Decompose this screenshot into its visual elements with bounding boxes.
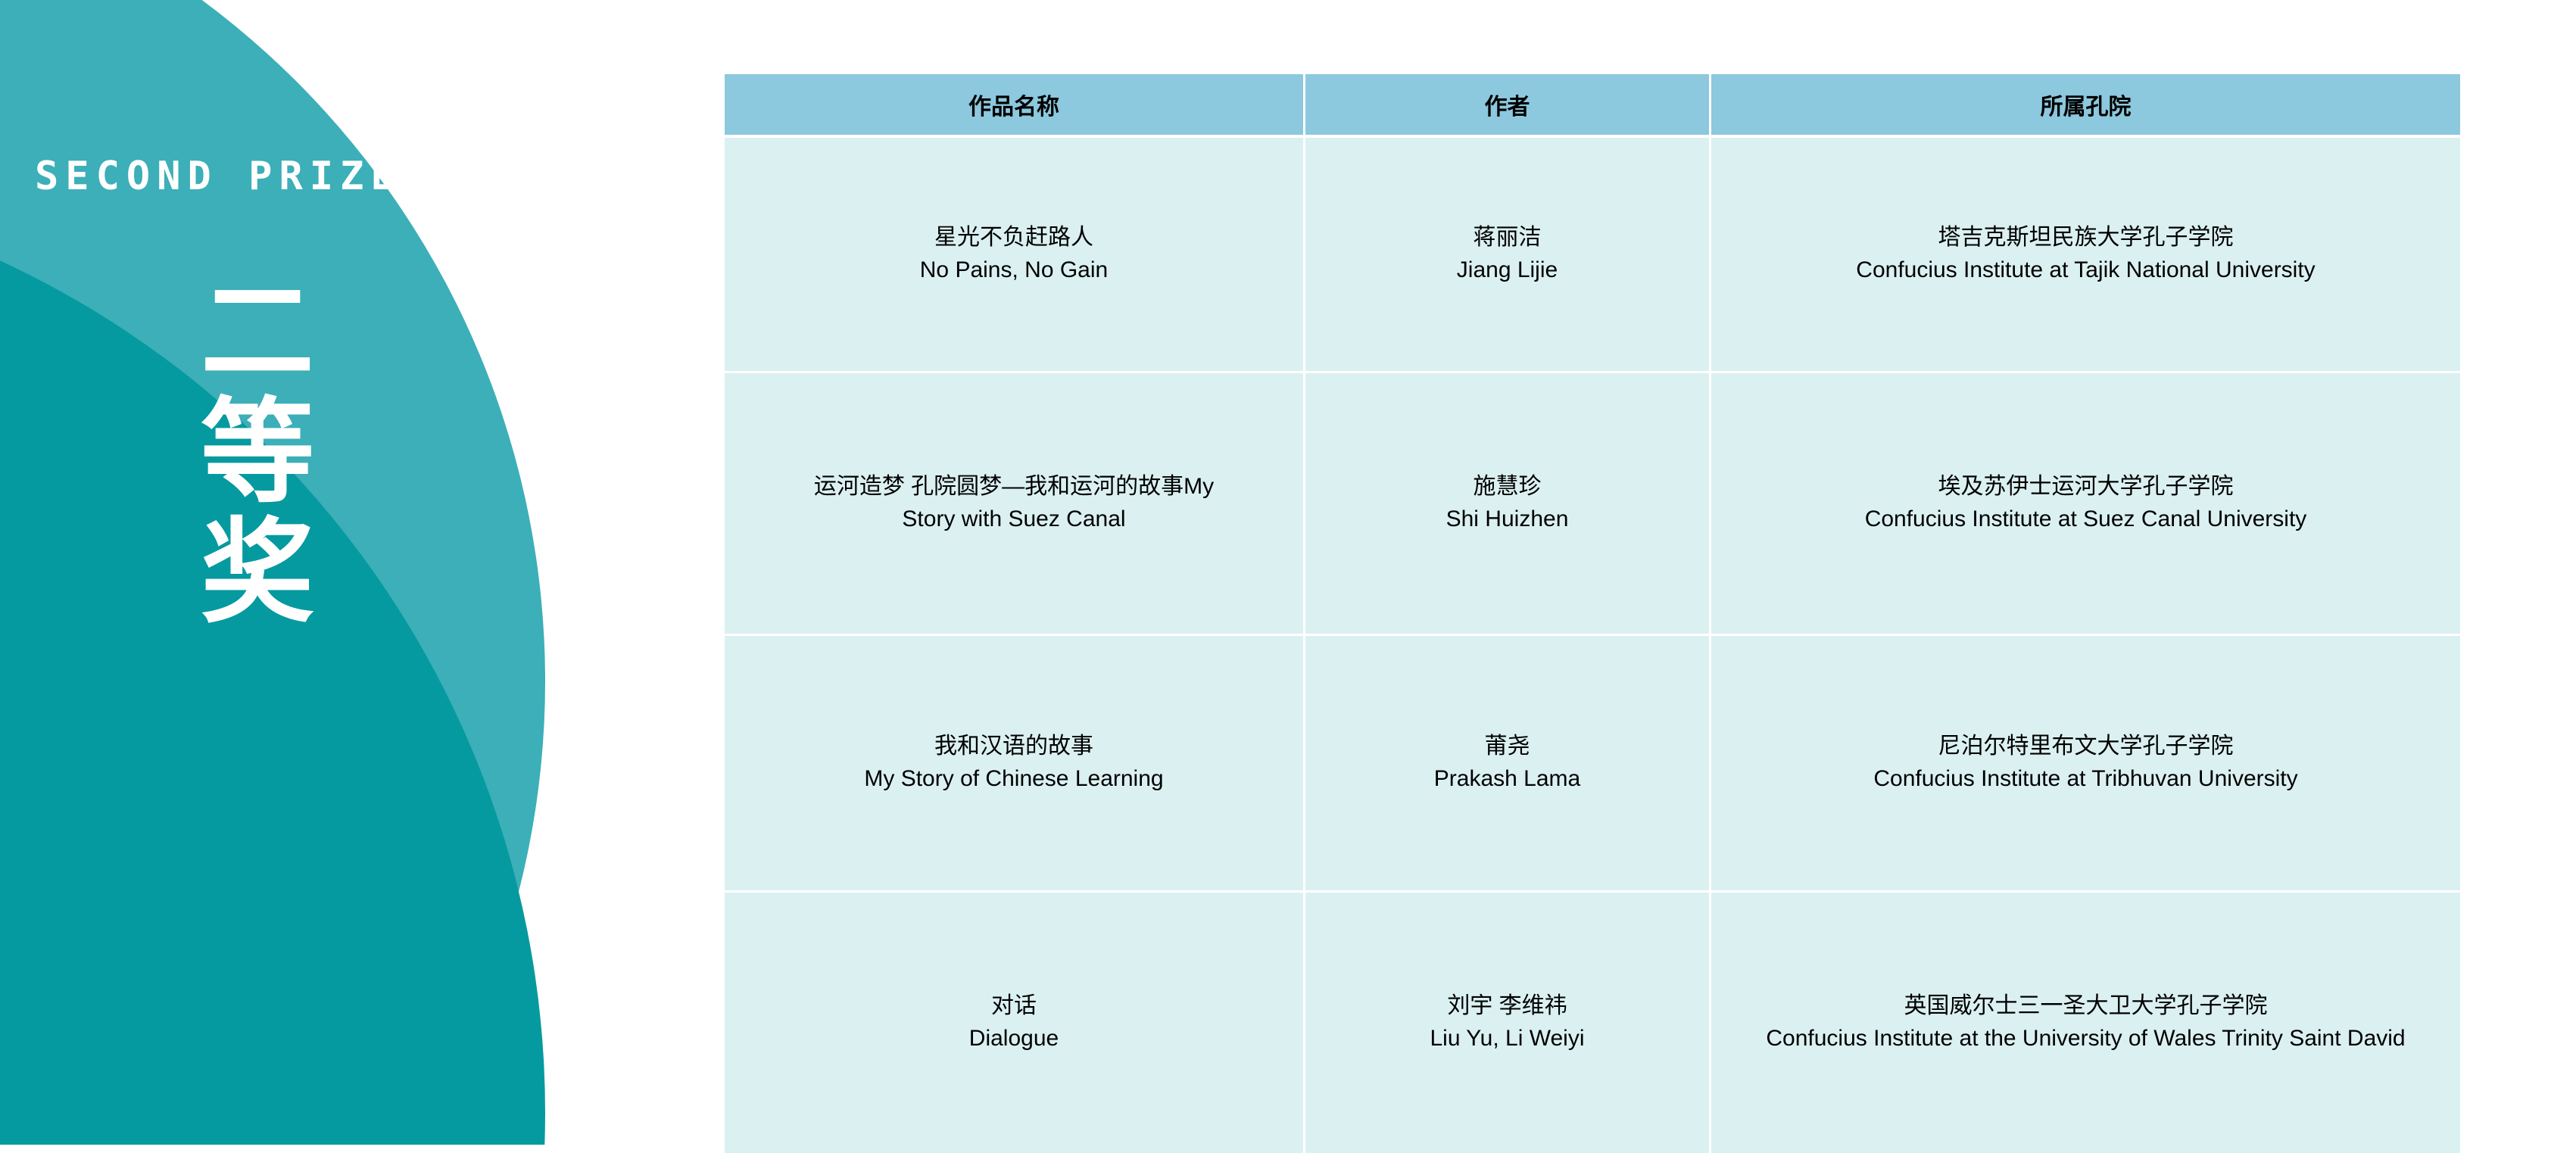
prize-label-chinese: 二 等 奖 xyxy=(144,273,371,634)
prize-char-1: 二 xyxy=(144,273,371,393)
cell-author-english: Shi Huizhen xyxy=(1325,503,1689,536)
cell-institute-english: Confucius Institute at Tajik National Un… xyxy=(1731,254,2440,287)
cell-title-chinese: 对话 xyxy=(744,990,1283,1023)
prize-label-english: SECOND PRIZE xyxy=(35,157,401,196)
cell-author-chinese: 莆尧 xyxy=(1325,731,1689,763)
prize-char-2: 等 xyxy=(144,393,371,513)
table-row: 对话 Dialogue 刘宇 李维祎 Liu Yu, Li Weiyi 英国威尔… xyxy=(725,893,2460,1153)
cell-institute-chinese: 塔吉克斯坦民族大学孔子学院 xyxy=(1731,222,2440,254)
table-header-row: 作品名称 作者 所属孔院 xyxy=(725,74,2460,138)
table-header: 作品名称 作者 所属孔院 xyxy=(725,74,2460,138)
cell-author-chinese: 蒋丽洁 xyxy=(1325,222,1689,254)
table-row: 星光不负赶路人 No Pains, No Gain 蒋丽洁 Jiang Liji… xyxy=(725,138,2460,373)
cell-title: 对话 Dialogue xyxy=(725,893,1305,1153)
prize-char-3: 奖 xyxy=(144,513,371,634)
cell-institute: 塔吉克斯坦民族大学孔子学院 Confucius Institute at Taj… xyxy=(1711,138,2460,373)
column-header-title: 作品名称 xyxy=(725,74,1305,138)
table-row: 运河造梦 孔院圆梦—我和运河的故事My Story with Suez Cana… xyxy=(725,373,2460,636)
cell-author-english: Jiang Lijie xyxy=(1325,254,1689,287)
cell-institute-chinese: 英国威尔士三一圣大卫大学孔子学院 xyxy=(1731,990,2440,1023)
cell-author: 施慧珍 Shi Huizhen xyxy=(1305,373,1711,636)
cell-author-chinese: 施慧珍 xyxy=(1325,471,1689,503)
cell-author-english: Prakash Lama xyxy=(1325,763,1689,796)
cell-title-english: Story with Suez Canal xyxy=(744,503,1283,536)
left-decorative-panel: SECOND PRIZE 二 等 奖 xyxy=(0,0,621,1145)
cell-title-english: No Pains, No Gain xyxy=(744,254,1283,287)
cell-institute-english: Confucius Institute at the University of… xyxy=(1731,1023,2440,1055)
cell-author-chinese: 刘宇 李维祎 xyxy=(1325,990,1689,1023)
cell-institute-chinese: 尼泊尔特里布文大学孔子学院 xyxy=(1731,731,2440,763)
cell-author: 蒋丽洁 Jiang Lijie xyxy=(1305,138,1711,373)
cell-author: 刘宇 李维祎 Liu Yu, Li Weiyi xyxy=(1305,893,1711,1153)
cell-institute-english: Confucius Institute at Suez Canal Univer… xyxy=(1731,503,2440,536)
cell-author: 莆尧 Prakash Lama xyxy=(1305,636,1711,893)
cell-title-english: My Story of Chinese Learning xyxy=(744,763,1283,796)
cell-institute-english: Confucius Institute at Tribhuvan Univers… xyxy=(1731,763,2440,796)
column-header-author: 作者 xyxy=(1305,74,1711,138)
cell-title: 运河造梦 孔院圆梦—我和运河的故事My Story with Suez Cana… xyxy=(725,373,1305,636)
cell-institute: 埃及苏伊士运河大学孔子学院 Confucius Institute at Sue… xyxy=(1711,373,2460,636)
table-row: 我和汉语的故事 My Story of Chinese Learning 莆尧 … xyxy=(725,636,2460,893)
cell-institute: 尼泊尔特里布文大学孔子学院 Confucius Institute at Tri… xyxy=(1711,636,2460,893)
award-table: 作品名称 作者 所属孔院 星光不负赶路人 No Pains, No Gain 蒋… xyxy=(725,74,2460,1153)
cell-institute: 英国威尔士三一圣大卫大学孔子学院 Confucius Institute at … xyxy=(1711,893,2460,1153)
cell-title-chinese: 星光不负赶路人 xyxy=(744,222,1283,254)
cell-title: 我和汉语的故事 My Story of Chinese Learning xyxy=(725,636,1305,893)
column-header-institute: 所属孔院 xyxy=(1711,74,2460,138)
table-body: 星光不负赶路人 No Pains, No Gain 蒋丽洁 Jiang Liji… xyxy=(725,138,2460,1153)
cell-title-chinese: 运河造梦 孔院圆梦—我和运河的故事My xyxy=(744,471,1283,503)
cell-title-english: Dialogue xyxy=(744,1023,1283,1055)
cell-author-english: Liu Yu, Li Weiyi xyxy=(1325,1023,1689,1055)
cell-institute-chinese: 埃及苏伊士运河大学孔子学院 xyxy=(1731,471,2440,503)
cell-title-chinese: 我和汉语的故事 xyxy=(744,731,1283,763)
cell-title: 星光不负赶路人 No Pains, No Gain xyxy=(725,138,1305,373)
